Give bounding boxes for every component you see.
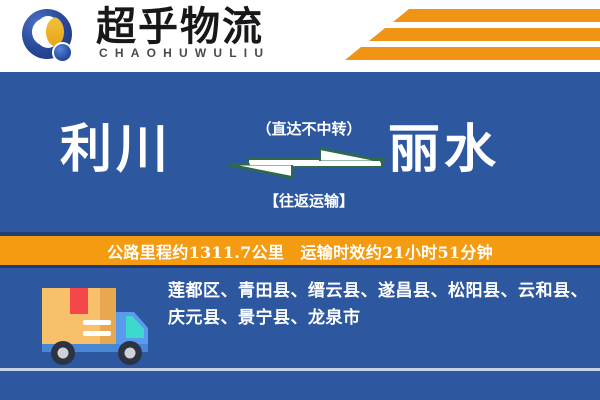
distance-duration-banner: 公路里程约1311.7公里 运输时效约21小时51分钟 — [0, 236, 600, 265]
logo-accent-dot-shape — [52, 42, 73, 63]
direct-route-note: （直达不中转） — [244, 118, 374, 139]
coverage-area-list: 莲都区、青田县、缙云县、遂昌县、松阳县、云和县、庆元县、景宁县、龙泉市 — [168, 278, 588, 332]
stripe-icon-1 — [393, 9, 600, 22]
distance-duration-text: 公路里程约1311.7公里 运输时效约21小时51分钟 — [107, 239, 493, 263]
origin-city-label: 利川 — [60, 121, 172, 179]
logistics-route-card: 超乎物流 CHAOHUWULIU 利川 （直达不中转） 【往返运输】 丽水 — [0, 0, 600, 400]
header-stripes-decoration — [345, 6, 600, 66]
stripe-icon-3 — [345, 47, 600, 60]
page-header: 超乎物流 CHAOHUWULIU — [0, 0, 600, 72]
chaohu-circle-logo-icon — [22, 9, 78, 65]
stripe-icon-2 — [369, 28, 600, 41]
bidirectional-arrow-icon — [224, 146, 388, 180]
route-panel: 利川 （直达不中转） 【往返运输】 丽水 — [0, 72, 600, 236]
brand-name-pinyin: CHAOHUWULIU — [99, 46, 270, 60]
brand-name-cn: 超乎物流 — [96, 6, 264, 48]
delivery-truck-icon — [28, 276, 156, 374]
road-line-decoration — [0, 368, 600, 371]
coverage-area-section: 莲都区、青田县、缙云县、遂昌县、松阳县、云和县、庆元县、景宁县、龙泉市 — [0, 268, 600, 400]
round-trip-note: 【往返运输】 — [244, 190, 374, 211]
destination-city-label: 丽水 — [388, 121, 500, 179]
